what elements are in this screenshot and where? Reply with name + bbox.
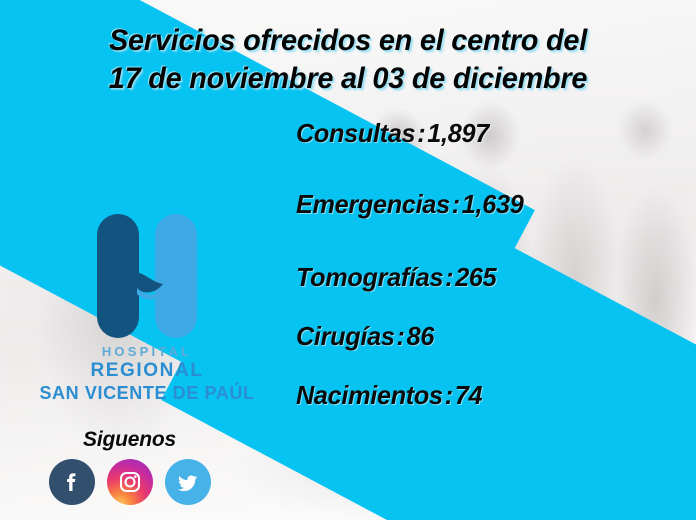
stat-value: 86 — [407, 321, 434, 351]
stat-value: 1,639 — [462, 189, 524, 219]
stat-separator: : — [395, 321, 407, 351]
hospital-logo: HOSPITAL REGIONAL SAN VICENTE DE PAÚL — [22, 212, 272, 404]
stat-row: Emergencias:1,639 — [296, 189, 684, 220]
social-follow-label: Siguenos — [22, 428, 237, 452]
hospital-h-monogram-icon — [93, 212, 201, 340]
stat-row: Tomografías:265 — [296, 262, 684, 293]
stat-value: 1,897 — [427, 118, 489, 148]
headline-line-2: 17 de noviembre al 03 de diciembre — [14, 60, 682, 98]
stat-row: Cirugías:86 — [296, 321, 684, 352]
stat-value: 265 — [455, 262, 496, 292]
stat-label: Consultas — [296, 118, 415, 148]
logo-line-hospital: HOSPITAL — [22, 344, 272, 360]
stat-value: 74 — [455, 380, 482, 410]
headline-line-1: Servicios ofrecidos en el centro del — [14, 22, 682, 60]
stat-label: Cirugías — [296, 321, 395, 351]
logo-line-regional: REGIONAL — [22, 360, 272, 382]
poster-canvas: Servicios ofrecidos en el centro del 17 … — [0, 0, 696, 520]
stat-label: Emergencias — [296, 189, 450, 219]
instagram-icon — [116, 468, 144, 496]
instagram-link[interactable] — [107, 459, 153, 505]
social-media-block: Siguenos — [22, 428, 237, 505]
stat-row: Nacimientos:74 — [296, 380, 684, 411]
social-icon-row — [22, 459, 237, 505]
stat-separator: : — [443, 262, 455, 292]
stat-row: Consultas:1,897 — [296, 118, 684, 149]
stat-separator: : — [450, 189, 462, 219]
logo-line-name: SAN VICENTE DE PAÚL — [22, 382, 272, 404]
stat-separator: : — [415, 118, 427, 148]
facebook-icon — [59, 469, 85, 495]
poster-headline: Servicios ofrecidos en el centro del 17 … — [0, 22, 696, 98]
twitter-link[interactable] — [165, 459, 211, 505]
statistics-list: Consultas:1,897 Emergencias:1,639 Tomogr… — [296, 118, 696, 411]
stat-label: Tomografías — [296, 262, 443, 292]
stat-label: Nacimientos — [296, 380, 443, 410]
twitter-icon — [174, 469, 201, 496]
facebook-link[interactable] — [49, 459, 95, 505]
stat-separator: : — [443, 380, 455, 410]
